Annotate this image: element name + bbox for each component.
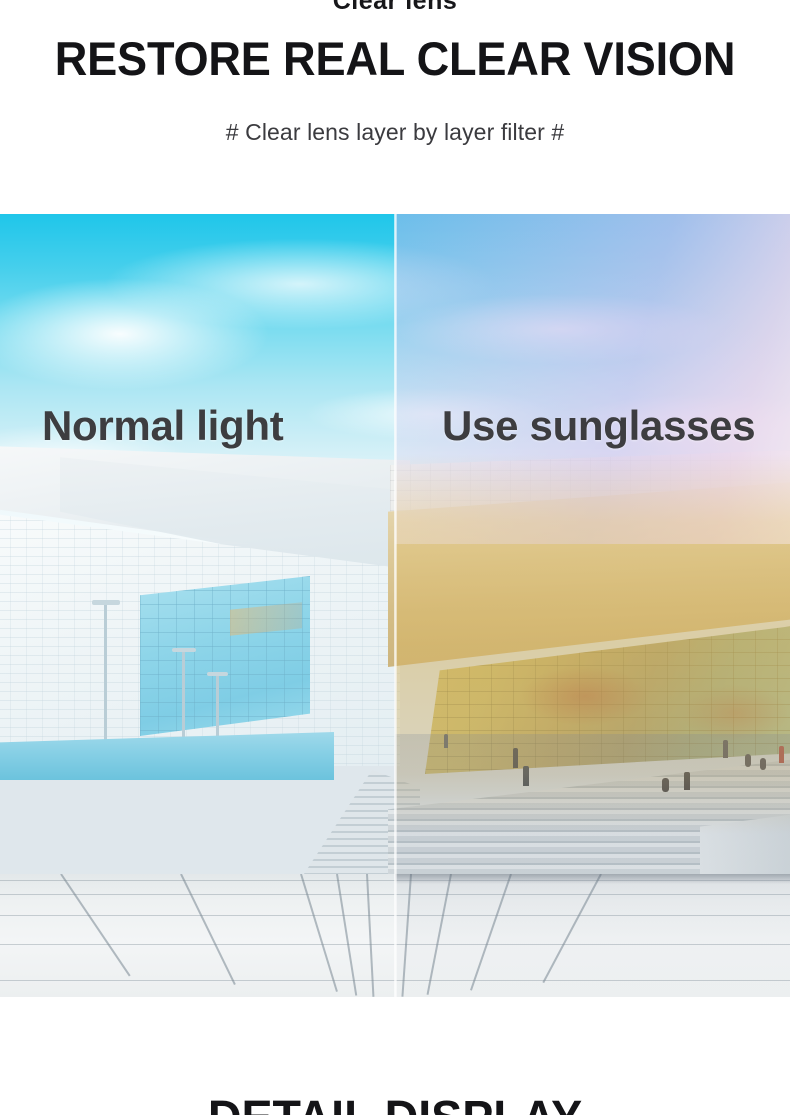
label-use-sunglasses: Use sunglasses bbox=[442, 405, 755, 447]
person-figure bbox=[523, 766, 529, 786]
paving-seam-v bbox=[542, 874, 602, 983]
glass-reflection-right-1 bbox=[520, 666, 650, 726]
page-subtitle: # Clear lens layer by layer filter # bbox=[0, 119, 790, 146]
person-figure bbox=[760, 758, 766, 770]
person-figure bbox=[723, 740, 728, 758]
page-title: RESTORE REAL CLEAR VISION bbox=[16, 33, 774, 86]
paving-seam-v bbox=[470, 874, 512, 991]
eyebrow-text: Clear lens bbox=[0, 0, 790, 16]
paving-seam-v bbox=[427, 874, 452, 995]
person-figure bbox=[779, 746, 784, 763]
paving-seam-v bbox=[336, 874, 357, 996]
glass-wall-left bbox=[140, 576, 310, 736]
person-figure bbox=[662, 778, 669, 792]
comparison-hero-image: Normal light Use sunglasses bbox=[0, 214, 790, 997]
paving-seam-v bbox=[60, 874, 130, 977]
lamp-head-1 bbox=[92, 600, 120, 605]
lamp-head-3 bbox=[207, 672, 228, 676]
person-figure bbox=[444, 734, 448, 748]
lamp-post-1 bbox=[104, 604, 107, 754]
person-figure bbox=[684, 772, 690, 790]
person-figure bbox=[513, 748, 518, 768]
glass-reflection-right-2 bbox=[680, 684, 790, 742]
person-figure bbox=[745, 754, 751, 767]
comparison-divider bbox=[394, 214, 397, 997]
paving-seam-v bbox=[366, 874, 374, 997]
paving-seam-v bbox=[401, 874, 412, 997]
section-title-detail-display: DETAIL DISPLAY bbox=[12, 1093, 778, 1115]
label-normal-light: Normal light bbox=[42, 405, 283, 447]
paving-seam-v bbox=[300, 874, 338, 992]
lamp-head-2 bbox=[172, 648, 196, 652]
paving-seam-v bbox=[180, 874, 236, 985]
plaza-shadow-band bbox=[395, 874, 790, 884]
product-detail-page: Clear lens RESTORE REAL CLEAR VISION # C… bbox=[0, 0, 790, 1115]
